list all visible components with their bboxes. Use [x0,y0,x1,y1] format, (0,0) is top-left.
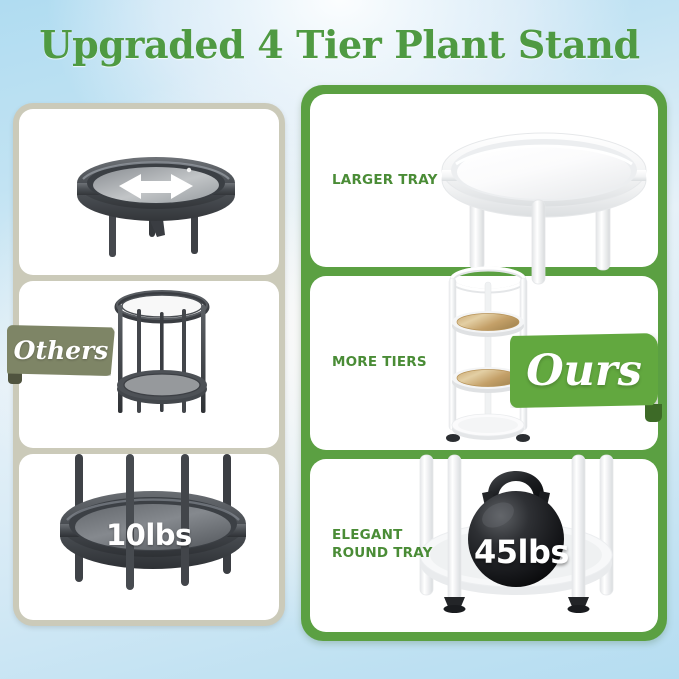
ours-badge-tab [645,404,662,422]
dark-metal-small-tray-icon [61,137,251,267]
page-title: Upgraded 4 Tier Plant Stand [0,22,679,67]
feature-label-larger-tray: LARGER TRAY [332,172,438,190]
dark-metal-two-tier-stand-icon [107,285,217,425]
white-large-round-tray-icon [426,118,666,288]
ours-capacity-label: 45lbs [474,533,569,571]
others-card-small-tray[interactable] [19,109,279,275]
feature-label-more-tiers: MORE TIERS [332,354,427,372]
others-badge: Others [7,325,115,376]
others-card-small-tray-clip [19,109,279,275]
others-capacity-label: 10lbs [106,518,192,552]
infographic-canvas: Upgraded 4 Tier Plant Stand [0,0,679,679]
ours-badge: Ours [510,333,658,408]
feature-label-elegant-round-tray: ELEGANT ROUND TRAY [332,528,433,564]
ours-card-larger-tray[interactable]: LARGER TRAY [310,94,658,267]
